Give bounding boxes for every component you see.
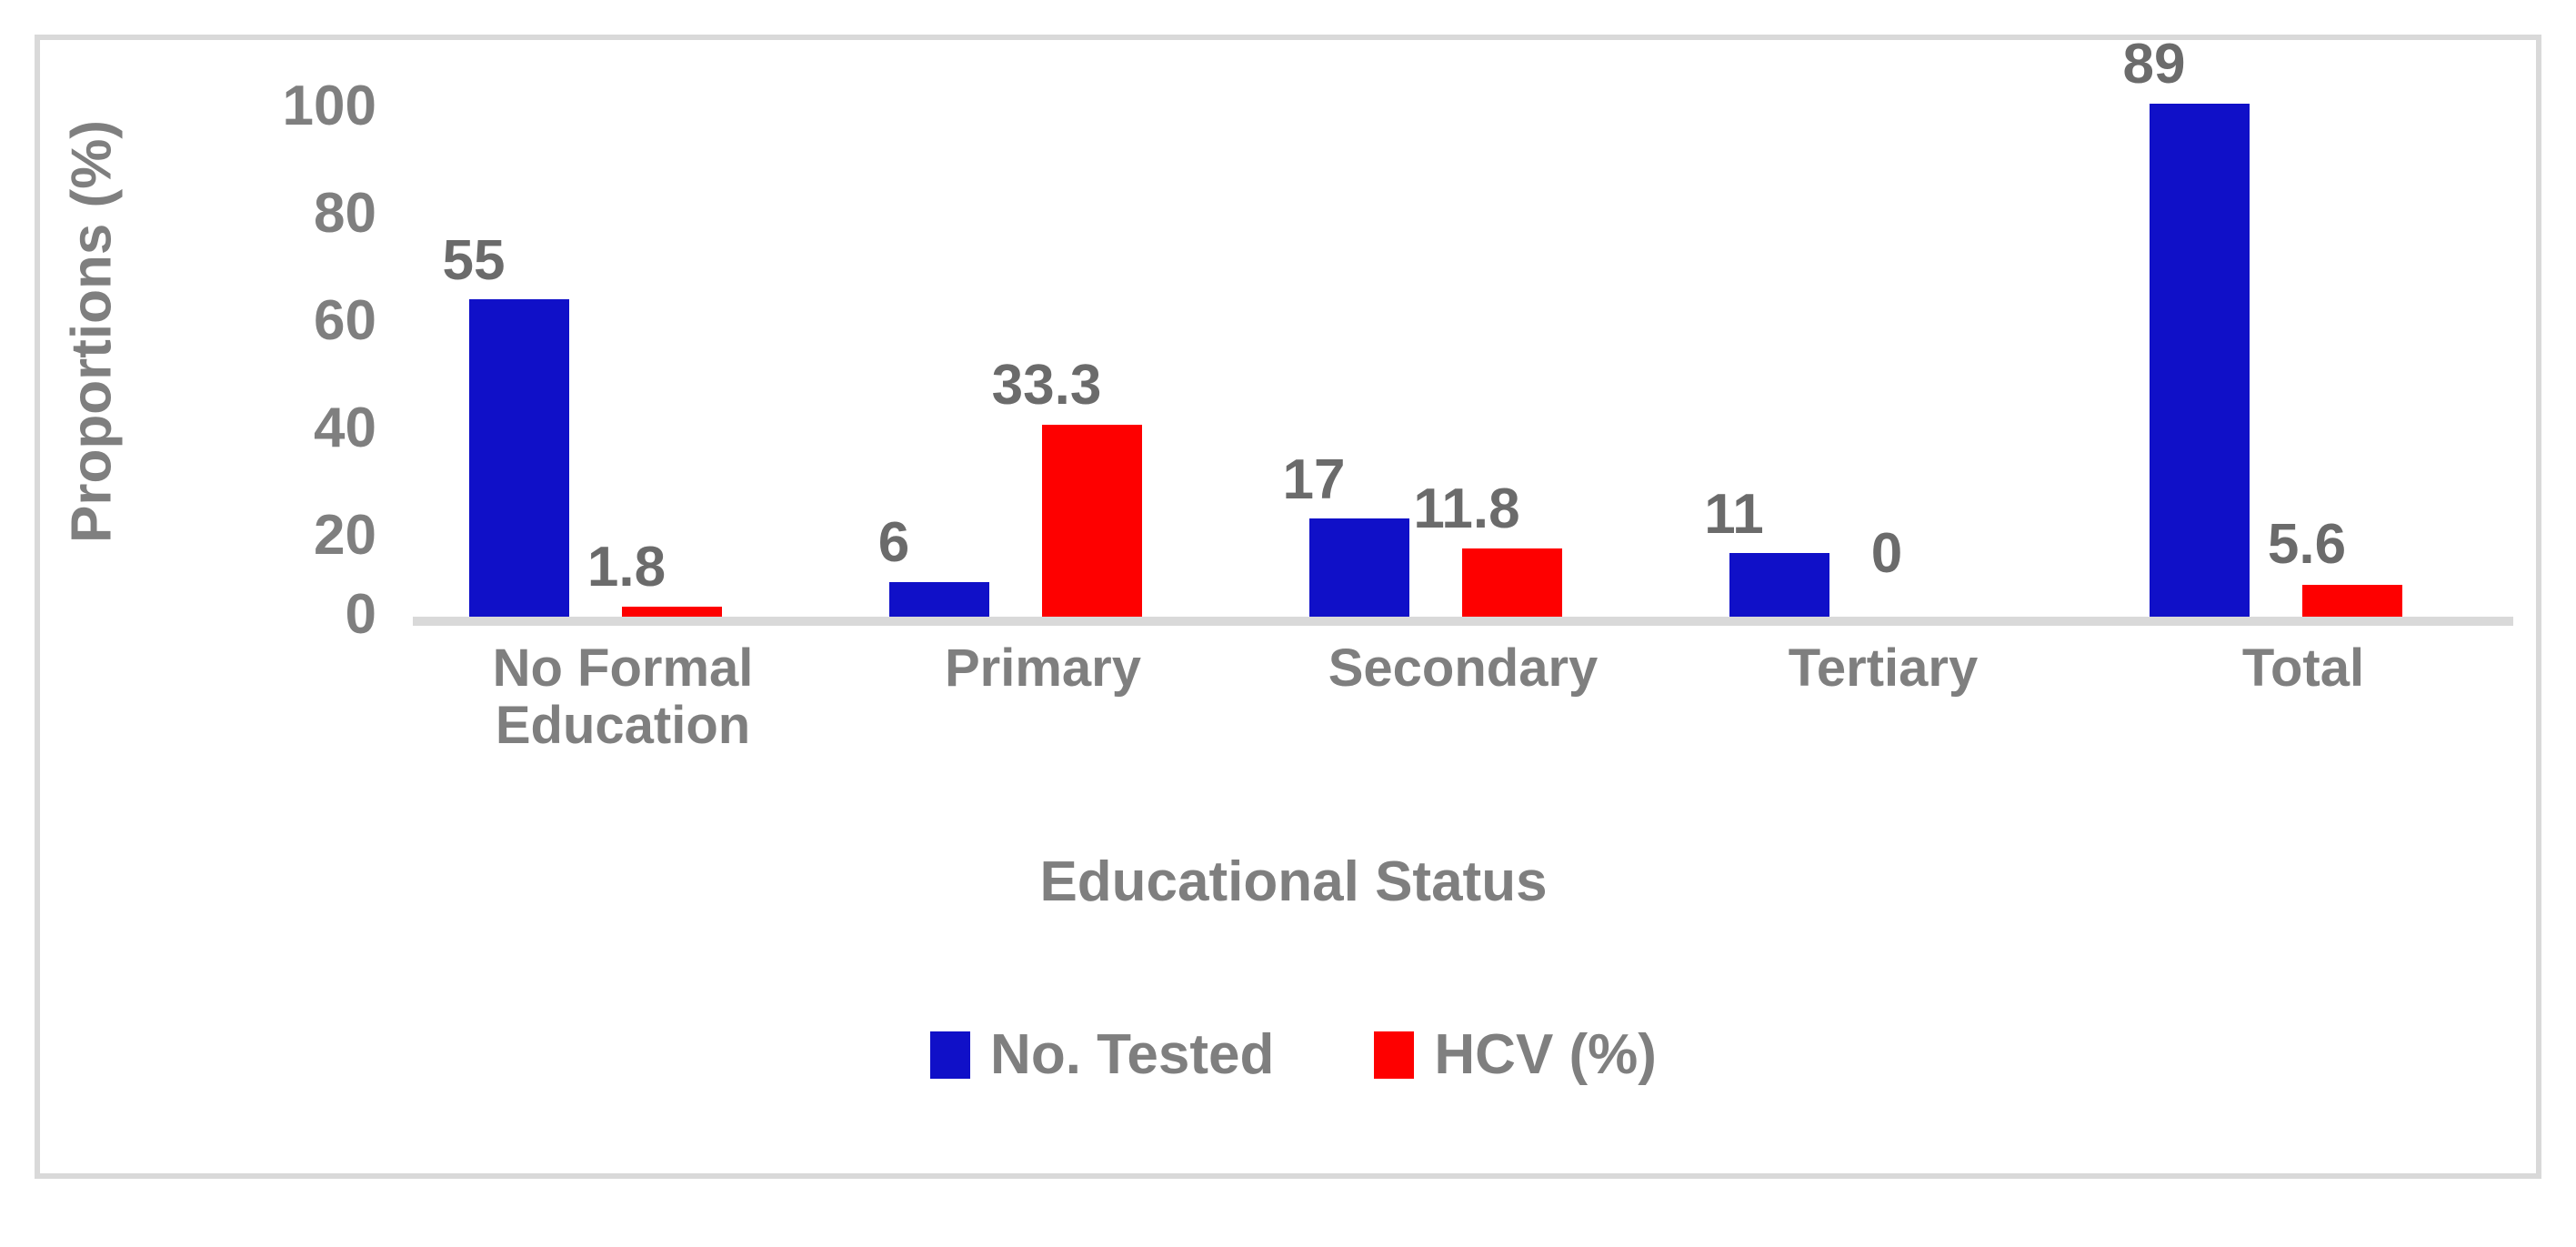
x-axis-label-line-1: Tertiary bbox=[1701, 640, 2065, 698]
bar-group-total: 89 5.6 bbox=[2093, 40, 2513, 617]
y-axis-tick-20: 20 bbox=[231, 508, 376, 564]
bar-group-secondary: 17 11.8 bbox=[1253, 40, 1673, 617]
bar-value-no-tested-total: 89 bbox=[2036, 36, 2272, 93]
y-axis-tick-100: 100 bbox=[231, 78, 376, 135]
category-axis-line bbox=[413, 617, 2513, 626]
legend-label-no-tested: No. Tested bbox=[990, 1027, 1274, 1083]
bar-value-hcv-no-formal-education: 1.8 bbox=[508, 539, 745, 596]
bar-group-no-formal-education: 55 1.8 bbox=[413, 40, 833, 617]
bar-hcv-total[interactable] bbox=[2302, 585, 2402, 618]
category-labels: No Formal Education Primary Secondary Te… bbox=[413, 640, 2513, 822]
legend: No. Tested HCV (%) bbox=[40, 1027, 2547, 1083]
x-axis-label-total: Total bbox=[2121, 640, 2485, 698]
x-axis-label-no-formal-education: No Formal Education bbox=[441, 640, 805, 754]
y-axis-title: Proportions (%) bbox=[60, 86, 125, 578]
bar-value-hcv-tertiary: 0 bbox=[1769, 526, 2005, 582]
legend-item-no-tested[interactable]: No. Tested bbox=[930, 1027, 1274, 1083]
bar-value-no-tested-primary: 6 bbox=[776, 515, 1012, 571]
x-axis-title: Educational Status bbox=[40, 850, 2547, 914]
y-axis-tick-0: 0 bbox=[231, 587, 376, 643]
chart-frame: Proportions (%) 100 80 60 40 20 0 55 1.8… bbox=[35, 35, 2541, 1179]
x-axis-label-secondary: Secondary bbox=[1281, 640, 1645, 698]
x-axis-label-line-1: No Formal bbox=[441, 640, 805, 698]
y-axis-tick-60: 60 bbox=[231, 293, 376, 349]
bar-value-hcv-total: 5.6 bbox=[2189, 517, 2425, 573]
legend-swatch-red-icon bbox=[1374, 1031, 1414, 1079]
x-axis-label-line-1: Secondary bbox=[1281, 640, 1645, 698]
x-axis-label-line-1: Primary bbox=[861, 640, 1225, 698]
x-axis-label-line-2: Education bbox=[441, 698, 805, 755]
y-axis-tick-80: 80 bbox=[231, 186, 376, 242]
bar-group-tertiary: 11 0 bbox=[1673, 40, 2093, 617]
bar-no-tested-primary[interactable] bbox=[889, 582, 989, 617]
bars-layer: 55 1.8 6 33.3 17 11.8 11 bbox=[413, 40, 2513, 617]
y-axis-tick-40: 40 bbox=[231, 400, 376, 457]
bar-value-no-tested-no-formal-education: 55 bbox=[356, 233, 592, 289]
legend-item-hcv[interactable]: HCV (%) bbox=[1374, 1027, 1657, 1083]
bar-value-hcv-secondary: 11.8 bbox=[1348, 481, 1585, 538]
x-axis-label-primary: Primary bbox=[861, 640, 1225, 698]
legend-swatch-blue-icon bbox=[930, 1031, 970, 1079]
bar-hcv-no-formal-education[interactable] bbox=[622, 607, 722, 617]
bar-value-hcv-primary: 33.3 bbox=[928, 357, 1165, 414]
plot-area: Proportions (%) 100 80 60 40 20 0 55 1.8… bbox=[40, 40, 2536, 1173]
x-axis-label-line-1: Total bbox=[2121, 640, 2485, 698]
x-axis-label-tertiary: Tertiary bbox=[1701, 640, 2065, 698]
bar-group-primary: 6 33.3 bbox=[833, 40, 1253, 617]
bar-hcv-secondary[interactable] bbox=[1462, 548, 1562, 617]
bar-hcv-primary[interactable] bbox=[1042, 425, 1142, 617]
legend-label-hcv: HCV (%) bbox=[1434, 1027, 1657, 1083]
